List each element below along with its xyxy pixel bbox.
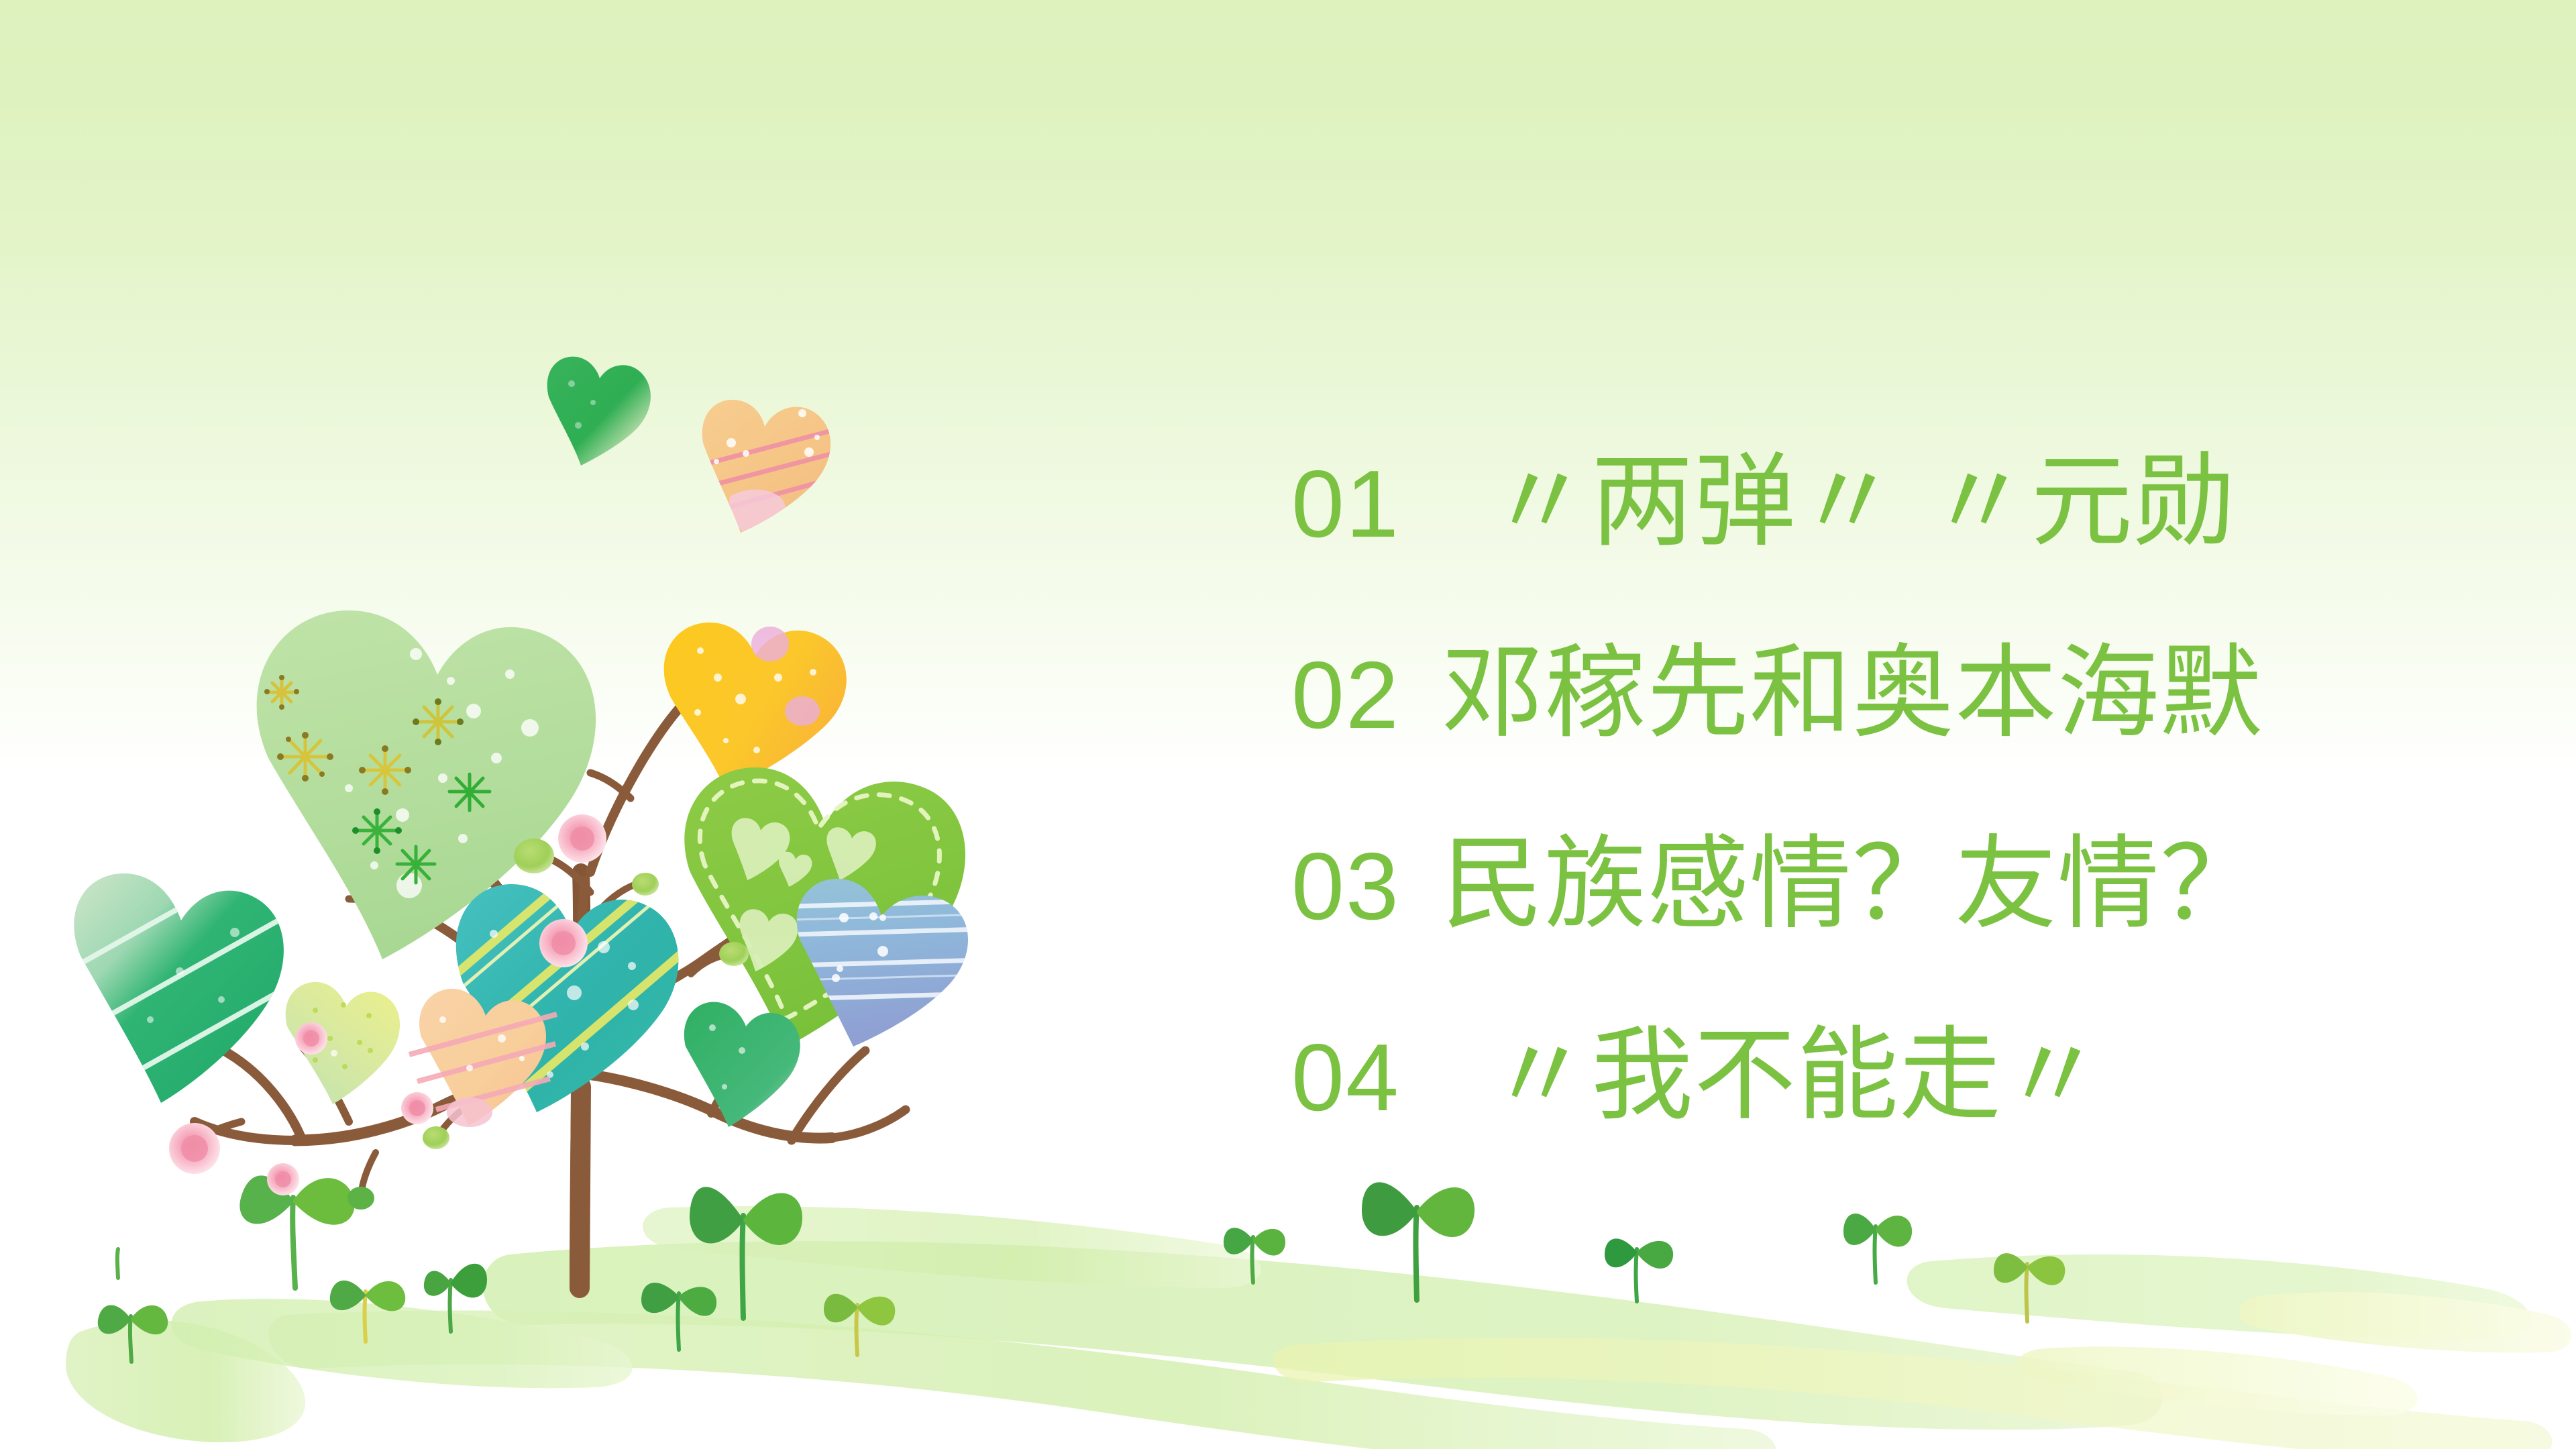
toc-label-01: 〃两弹〃 〃元勋 xyxy=(1489,451,2236,553)
table-of-contents: 01 〃两弹〃 〃元勋 02 邓稼先和奥本海默 03 民族感情？友情？ 04 〃… xyxy=(1291,451,2472,1216)
float-heart-peach xyxy=(684,400,853,540)
toc-number-02: 02 xyxy=(1291,648,1400,743)
toc-item-02[interactable]: 02 邓稼先和奥本海默 xyxy=(1291,642,2472,833)
toc-item-01[interactable]: 01 〃两弹〃 〃元勋 xyxy=(1291,451,2472,642)
toc-number-04: 04 xyxy=(1291,1030,1400,1126)
toc-item-03[interactable]: 03 民族感情？友情？ xyxy=(1291,833,2472,1024)
toc-label-03: 民族感情？友情？ xyxy=(1442,833,2263,935)
toc-number-01: 01 xyxy=(1291,457,1400,552)
toc-label-04: 〃我不能走〃 xyxy=(1489,1024,2104,1126)
float-heart-green xyxy=(547,357,651,466)
toc-label-02: 邓稼先和奥本海默 xyxy=(1442,642,2263,744)
slide-canvas: 01 〃两弹〃 〃元勋 02 邓稼先和奥本海默 03 民族感情？友情？ 04 〃… xyxy=(0,0,2576,1449)
toc-item-04[interactable]: 04 〃我不能走〃 xyxy=(1291,1024,2472,1216)
toc-number-03: 03 xyxy=(1291,839,1400,934)
